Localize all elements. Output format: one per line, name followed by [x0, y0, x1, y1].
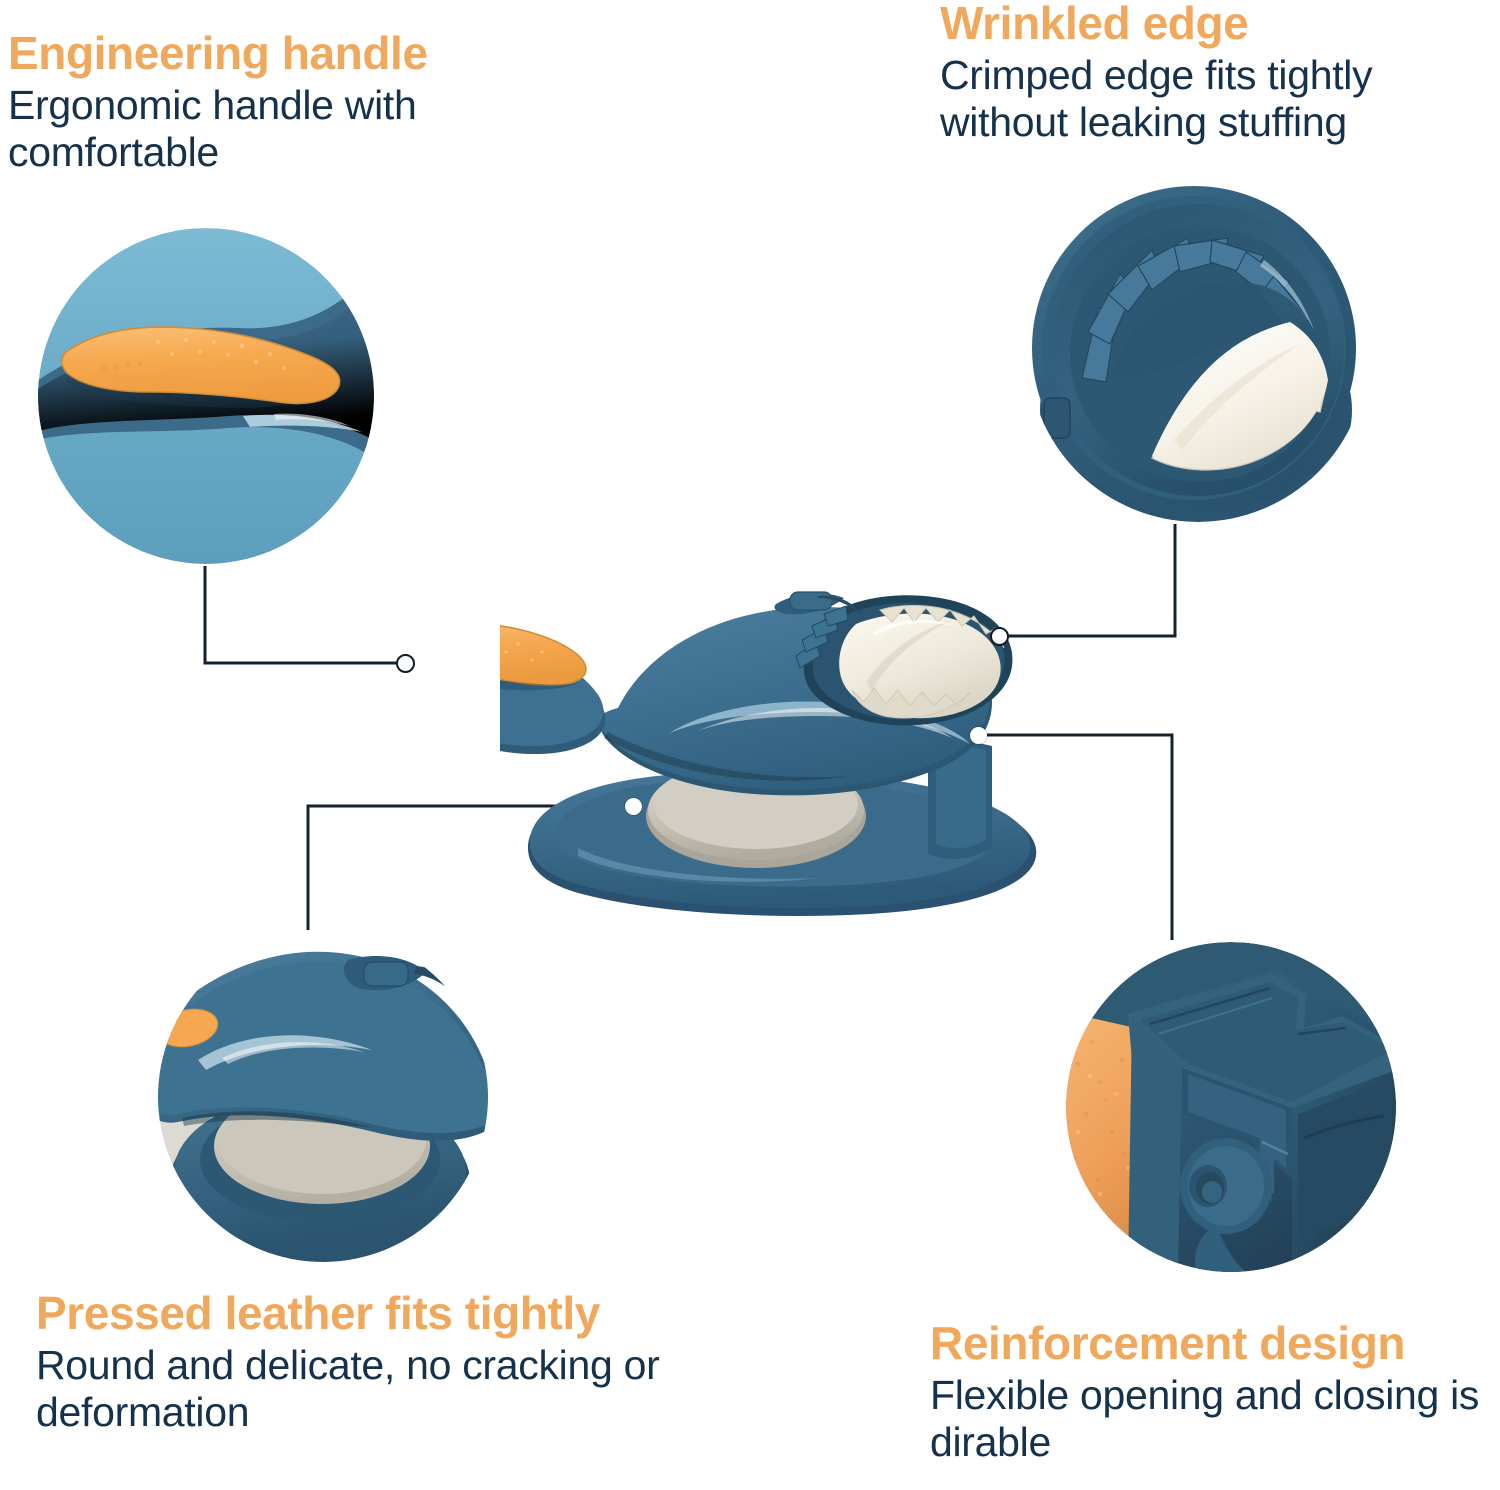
- callout-reinforcement-body: Flexible opening and closing is dirable: [930, 1372, 1500, 1467]
- detail-bubble-hinge: [1066, 942, 1396, 1272]
- infographic-canvas: Engineering handle Ergonomic handle with…: [0, 0, 1500, 1490]
- product-main-image: [500, 548, 1100, 958]
- callout-engineering-body: Ergonomic handle with comfortable: [8, 82, 528, 177]
- callout-wrinkled: Wrinkled edge Crimped edge fits tightly …: [940, 0, 1500, 147]
- hinge-closeup-image: [1066, 942, 1396, 1272]
- callout-wrinkled-body: Crimped edge fits tightly without leakin…: [940, 52, 1500, 147]
- pressed-plate-closeup-image: [158, 932, 488, 1262]
- lid-latch-block: [790, 592, 832, 610]
- callout-dot-handle: [396, 654, 415, 673]
- callout-dot-hinge: [970, 727, 987, 744]
- callout-dot-plate: [625, 798, 642, 815]
- callout-wrinkled-title: Wrinkled edge: [940, 0, 1500, 48]
- callout-pressed-title: Pressed leather fits tightly: [36, 1290, 756, 1338]
- callout-engineering: Engineering handle Ergonomic handle with…: [8, 30, 528, 177]
- dumpling-maker-render: [500, 548, 1100, 958]
- callout-dot-crimp: [990, 627, 1009, 646]
- detail-bubble-crimped-edge: [1028, 182, 1368, 522]
- connector-to-engineering: [205, 566, 398, 663]
- callout-engineering-title: Engineering handle: [8, 30, 528, 78]
- callout-pressed-body: Round and delicate, no cracking or defor…: [36, 1342, 756, 1437]
- handle-closeup-image: [38, 228, 374, 564]
- callout-pressed: Pressed leather fits tightly Round and d…: [36, 1290, 756, 1437]
- detail-bubble-pressed-plate: [158, 932, 488, 1262]
- detail-bubble-handle: [38, 228, 374, 564]
- crimped-edge-closeup-image: [1028, 182, 1368, 522]
- callout-reinforcement: Reinforcement design Flexible opening an…: [930, 1320, 1500, 1467]
- callout-reinforcement-title: Reinforcement design: [930, 1320, 1500, 1368]
- handle-grip-pad: [500, 623, 586, 685]
